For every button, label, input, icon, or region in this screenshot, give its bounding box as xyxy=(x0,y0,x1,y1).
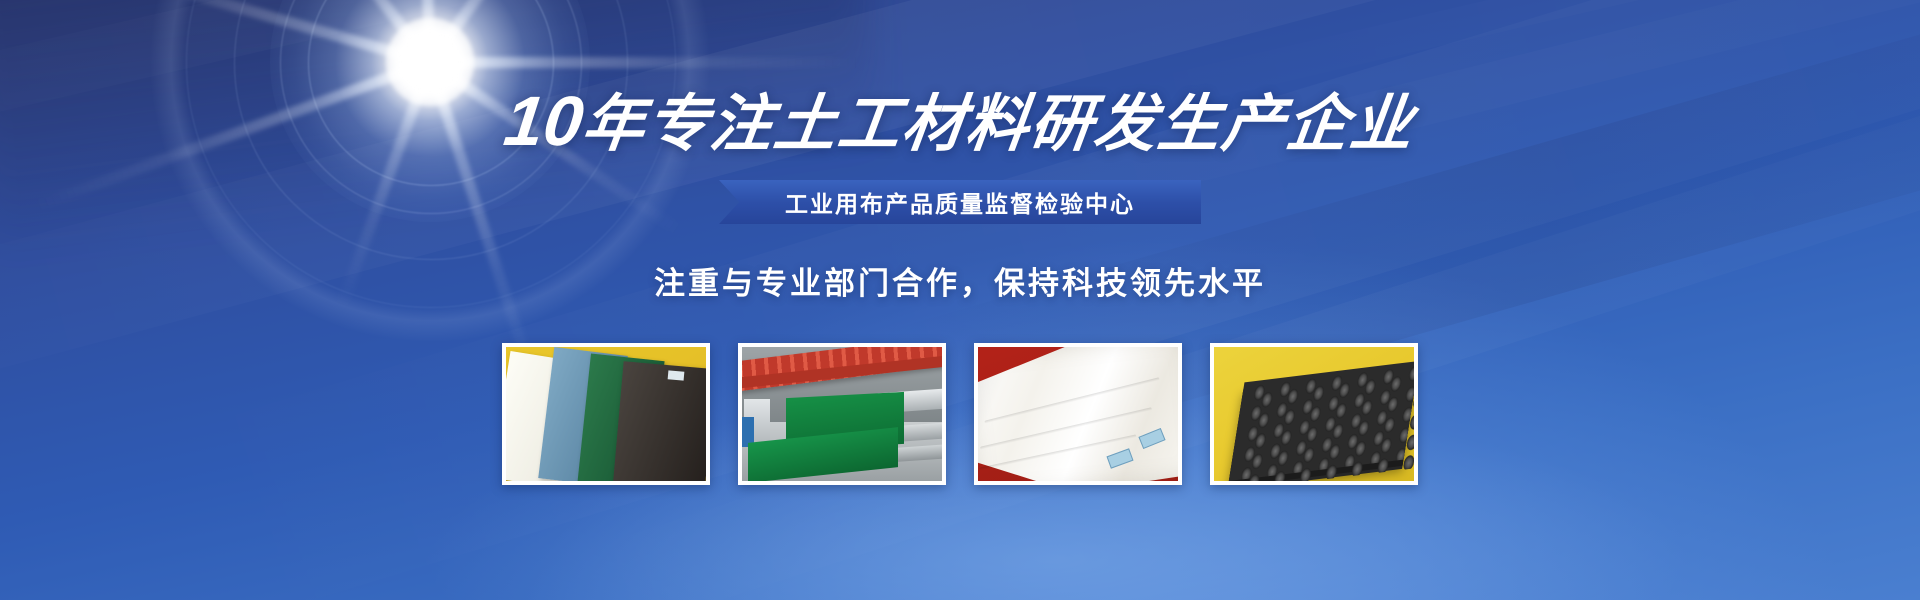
product-photo-strip: 彩色土工膜样板 绿色土工膜生产线 xyxy=(502,343,1418,485)
certification-ribbon: 工业用布产品质量监督检验中心 xyxy=(719,180,1201,224)
product-photo-production-line[interactable]: 绿色土工膜生产线 xyxy=(738,343,946,485)
banner-content: 10年专注土工材料研发生产企业 工业用布产品质量监督检验中心 注重与专业部门合作… xyxy=(0,0,1920,600)
drainage-board xyxy=(1229,361,1414,481)
product-photo-drainage-board[interactable]: 黑色塑料排水板 xyxy=(1210,343,1418,485)
photo-image xyxy=(978,347,1178,481)
product-photo-geomembrane-sheets[interactable]: 彩色土工膜样板 xyxy=(502,343,710,485)
sheet-black xyxy=(613,361,706,481)
promo-banner: 10年专注土工材料研发生产企业 工业用布产品质量监督检验中心 注重与专业部门合作… xyxy=(0,0,1920,600)
photo-image xyxy=(742,347,942,481)
sheet-label xyxy=(668,370,685,380)
ribbon-notch-left xyxy=(719,180,741,224)
banner-tagline: 注重与专业部门合作，保持科技领先水平 xyxy=(654,258,1266,303)
photo-image xyxy=(506,347,706,481)
product-photo-geotextile-fabric[interactable]: 白色土工布 xyxy=(974,343,1182,485)
photo-image xyxy=(1214,347,1414,481)
ribbon-notch-right xyxy=(1179,180,1201,224)
headline-text: 年专注土工材料研发生产企业 xyxy=(578,90,1418,159)
ribbon-label: 工业用布产品质量监督检验中心 xyxy=(785,185,1135,219)
banner-headline: 10年专注土工材料研发生产企业 xyxy=(501,86,1419,156)
headline-number: 10 xyxy=(500,82,587,160)
